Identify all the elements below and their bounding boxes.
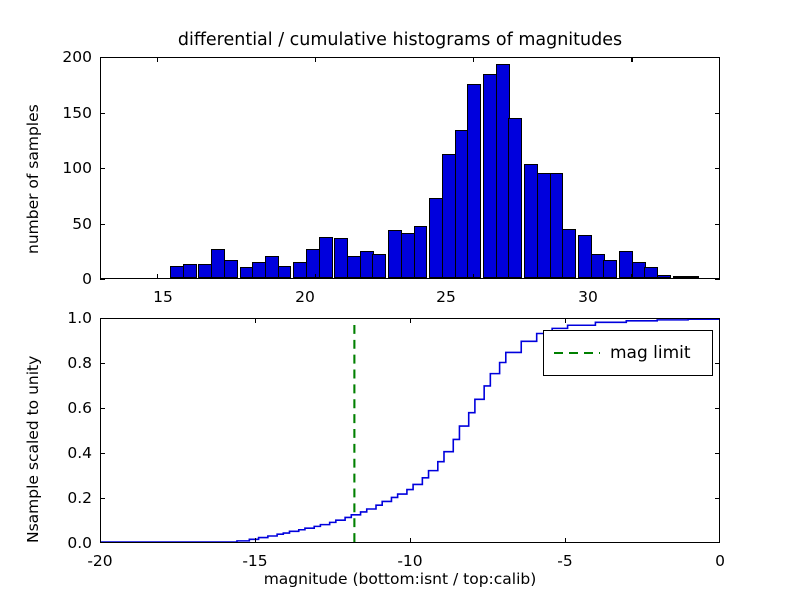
- bottom-xtick-label-m20: -20: [87, 552, 112, 570]
- figure-canvas: differential / cumulative histograms of …: [0, 0, 800, 600]
- legend-box[interactable]: mag limit: [543, 330, 713, 376]
- histogram-bar: [224, 260, 238, 278]
- xaxis-title: magnitude (bottom:isnt / top:calib): [0, 570, 800, 588]
- bottom-ytick-label-10: 1.0: [40, 309, 92, 327]
- bottom-xtick-label-0: 0: [715, 552, 725, 570]
- histogram-bar: [372, 254, 386, 278]
- top-ytick-label-150: 150: [44, 104, 92, 122]
- top-axis-tick: [100, 168, 105, 169]
- bottom-ytick-label-02: 0.2: [40, 489, 92, 507]
- top-ytick-label-50: 50: [52, 215, 92, 233]
- bottom-cumulative-axes: mag limit: [100, 318, 720, 543]
- mag-limit-line-swatch: [554, 352, 600, 354]
- bottom-axis-tick: [715, 498, 720, 499]
- bottom-xtick-label-m15: -15: [242, 552, 267, 570]
- bottom-ytick-label-08: 0.8: [40, 354, 92, 372]
- top-yaxis-title: number of samples: [24, 104, 42, 254]
- histogram-bar: [414, 226, 428, 278]
- top-xtick-label-30: 30: [578, 288, 598, 306]
- bottom-axis-tick: [715, 453, 720, 454]
- top-axis-tick: [315, 57, 316, 62]
- bottom-axis-tick: [410, 318, 411, 323]
- bottom-axis-tick: [715, 318, 720, 319]
- top-xtick-label-20: 20: [295, 288, 315, 306]
- legend-entry-label: mag limit: [610, 343, 691, 363]
- histogram-bar: [319, 237, 333, 278]
- top-axis-tick: [100, 224, 105, 225]
- histogram-bar: [603, 260, 617, 278]
- top-ytick-label-100: 100: [44, 159, 92, 177]
- bottom-axis-tick: [565, 538, 566, 543]
- top-histogram-axes: [100, 57, 720, 279]
- top-axis-tick: [715, 113, 720, 114]
- top-axis-tick: [631, 274, 632, 279]
- bottom-axis-tick: [100, 408, 105, 409]
- histogram-bar: [657, 275, 671, 278]
- bottom-axis-tick: [100, 542, 105, 543]
- top-ytick-label-0: 0: [52, 270, 92, 288]
- bottom-xtick-label-m10: -10: [397, 552, 422, 570]
- figure-title: differential / cumulative histograms of …: [0, 30, 800, 50]
- top-axis-tick: [315, 274, 316, 279]
- top-xtick-label-25: 25: [436, 288, 456, 306]
- top-axis-tick: [715, 224, 720, 225]
- top-axis-tick: [631, 57, 632, 62]
- bottom-axis-tick: [715, 363, 720, 364]
- bottom-ytick-label-00: 0.0: [40, 534, 92, 552]
- top-axis-tick: [157, 274, 158, 279]
- top-axis-tick: [473, 274, 474, 279]
- histogram-bar: [508, 118, 522, 278]
- bottom-ytick-label-04: 0.4: [40, 444, 92, 462]
- bottom-ytick-label-06: 0.6: [40, 399, 92, 417]
- histogram-bar: [467, 84, 481, 278]
- top-axis-tick: [100, 113, 105, 114]
- top-axis-tick: [473, 57, 474, 62]
- bottom-axis-tick: [715, 542, 720, 543]
- histogram-bar: [183, 264, 197, 278]
- bottom-axis-tick: [100, 363, 105, 364]
- top-xtick-label-15: 15: [153, 288, 173, 306]
- bottom-axis-tick: [255, 538, 256, 543]
- top-axis-tick: [715, 57, 720, 58]
- top-axis-tick: [157, 57, 158, 62]
- histogram-bar: [686, 276, 700, 278]
- histogram-bar: [278, 266, 292, 278]
- bottom-axis-tick: [100, 318, 105, 319]
- bottom-axis-tick: [410, 538, 411, 543]
- top-axis-tick: [715, 168, 720, 169]
- top-axis-tick: [100, 279, 105, 280]
- bottom-yaxis-title: Nsample scaled to unity: [24, 356, 42, 543]
- top-axis-tick: [715, 279, 720, 280]
- bottom-axis-tick: [255, 318, 256, 323]
- bottom-axis-tick: [100, 453, 105, 454]
- bottom-axis-tick: [100, 498, 105, 499]
- top-ytick-label-200: 200: [44, 48, 92, 66]
- bottom-xtick-label-m5: -5: [557, 552, 572, 570]
- histogram-bars: [101, 58, 719, 278]
- bottom-axis-tick: [565, 318, 566, 323]
- top-axis-tick: [100, 57, 105, 58]
- bottom-axis-tick: [715, 408, 720, 409]
- histogram-bar: [562, 229, 576, 278]
